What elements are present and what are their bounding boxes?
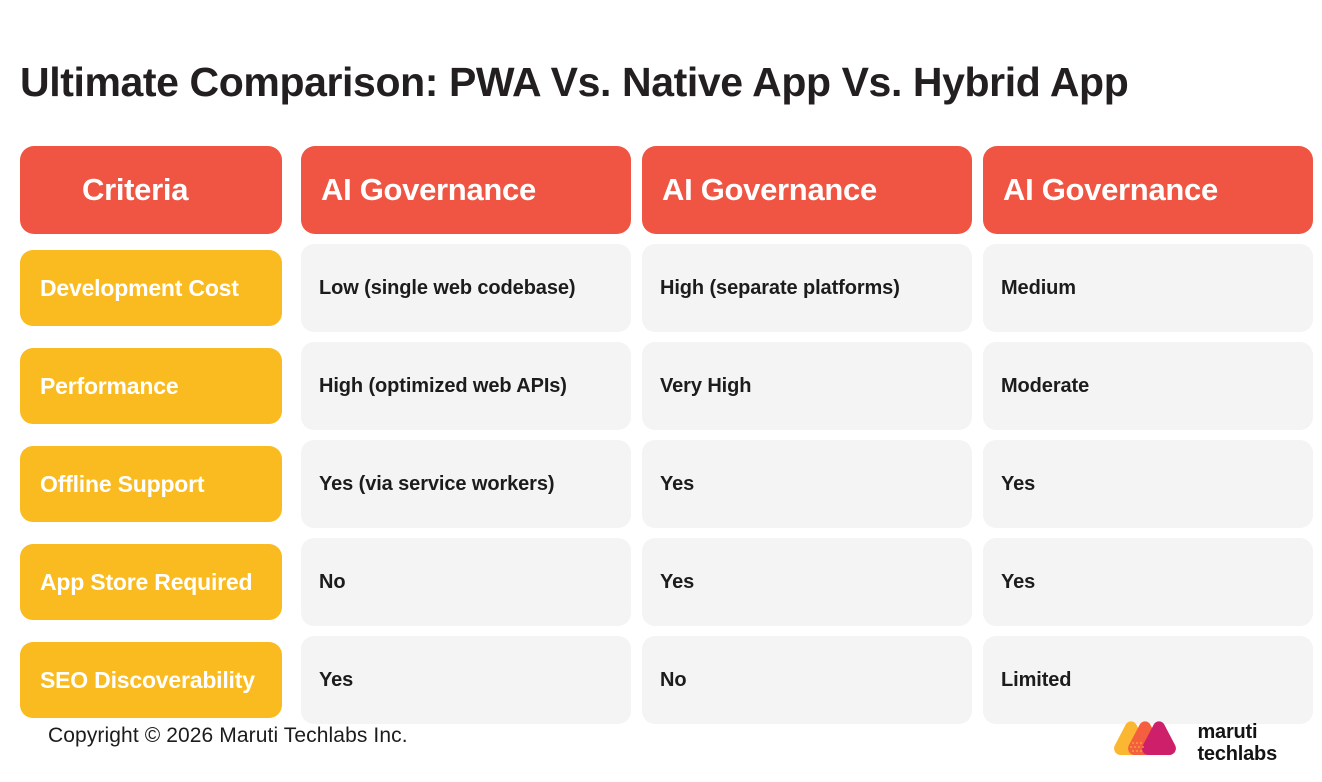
criteria-cell: Development Cost	[20, 250, 282, 326]
value-cell-column-3: Yes	[983, 440, 1313, 528]
value-label: Very High	[642, 363, 767, 409]
criteria-label: Development Cost	[20, 264, 257, 313]
table-header-row: Criteria AI Governance AI Governance AI …	[20, 146, 1310, 234]
header-label: AI Governance	[983, 172, 1238, 208]
criteria-cell: App Store Required	[20, 544, 282, 620]
value-label: Yes	[642, 461, 710, 507]
value-label: High (separate platforms)	[642, 265, 916, 311]
criteria-label: Performance	[20, 362, 196, 411]
table-row: SEO Discoverability Yes No Limited	[20, 636, 1310, 724]
value-cell-column-2: High (separate platforms)	[642, 244, 972, 332]
comparison-table: Criteria AI Governance AI Governance AI …	[20, 146, 1310, 724]
table-row: Performance High (optimized web APIs) Ve…	[20, 342, 1310, 430]
header-cell-column-1: AI Governance	[301, 146, 631, 234]
value-cell-column-2: Very High	[642, 342, 972, 430]
maruti-techlabs-logo: maruti techlabs	[1108, 718, 1277, 768]
table-row: Offline Support Yes (via service workers…	[20, 440, 1310, 528]
value-cell-column-2: Yes	[642, 440, 972, 528]
value-label: Medium	[983, 265, 1092, 311]
value-label: No	[642, 657, 702, 703]
value-label: No	[301, 559, 361, 605]
criteria-label: Offline Support	[20, 460, 222, 509]
value-cell-column-1: No	[301, 538, 631, 626]
logo-line-1: maruti	[1197, 721, 1277, 743]
header-label: Criteria	[20, 172, 208, 208]
value-label: Limited	[983, 657, 1087, 703]
copyright-text: Copyright © 2026 Maruti Techlabs Inc.	[48, 722, 408, 750]
page-title: Ultimate Comparison: PWA Vs. Native App …	[20, 56, 1310, 108]
comparison-infographic: Ultimate Comparison: PWA Vs. Native App …	[0, 0, 1322, 782]
value-cell-column-2: No	[642, 636, 972, 724]
value-label: Yes (via service workers)	[301, 461, 570, 507]
table-row: Development Cost Low (single web codebas…	[20, 244, 1310, 332]
header-label: AI Governance	[642, 172, 897, 208]
criteria-cell: Offline Support	[20, 446, 282, 522]
value-cell-column-3: Yes	[983, 538, 1313, 626]
header-cell-criteria: Criteria	[20, 146, 282, 234]
value-label: Yes	[301, 657, 369, 703]
logo-line-2: techlabs	[1197, 743, 1277, 765]
criteria-cell: SEO Discoverability	[20, 642, 282, 718]
value-cell-column-3: Medium	[983, 244, 1313, 332]
value-label: Yes	[983, 461, 1051, 507]
value-label: High (optimized web APIs)	[301, 363, 583, 409]
criteria-label: App Store Required	[20, 558, 270, 607]
table-row: App Store Required No Yes Yes	[20, 538, 1310, 626]
value-cell-column-2: Yes	[642, 538, 972, 626]
footer: Copyright © 2026 Maruti Techlabs Inc. ma…	[0, 712, 1322, 782]
value-cell-column-1: High (optimized web APIs)	[301, 342, 631, 430]
logo-wordmark: maruti techlabs	[1197, 721, 1277, 765]
value-label: Low (single web codebase)	[301, 265, 591, 311]
value-label: Yes	[642, 559, 710, 605]
value-cell-column-3: Moderate	[983, 342, 1313, 430]
value-cell-column-3: Limited	[983, 636, 1313, 724]
value-cell-column-1: Low (single web codebase)	[301, 244, 631, 332]
value-label: Moderate	[983, 363, 1105, 409]
value-cell-column-1: Yes (via service workers)	[301, 440, 631, 528]
header-cell-column-2: AI Governance	[642, 146, 972, 234]
criteria-cell: Performance	[20, 348, 282, 424]
header-label: AI Governance	[301, 172, 556, 208]
header-cell-column-3: AI Governance	[983, 146, 1313, 234]
criteria-label: SEO Discoverability	[20, 656, 273, 705]
value-label: Yes	[983, 559, 1051, 605]
value-cell-column-1: Yes	[301, 636, 631, 724]
logo-mark-icon	[1108, 718, 1186, 768]
